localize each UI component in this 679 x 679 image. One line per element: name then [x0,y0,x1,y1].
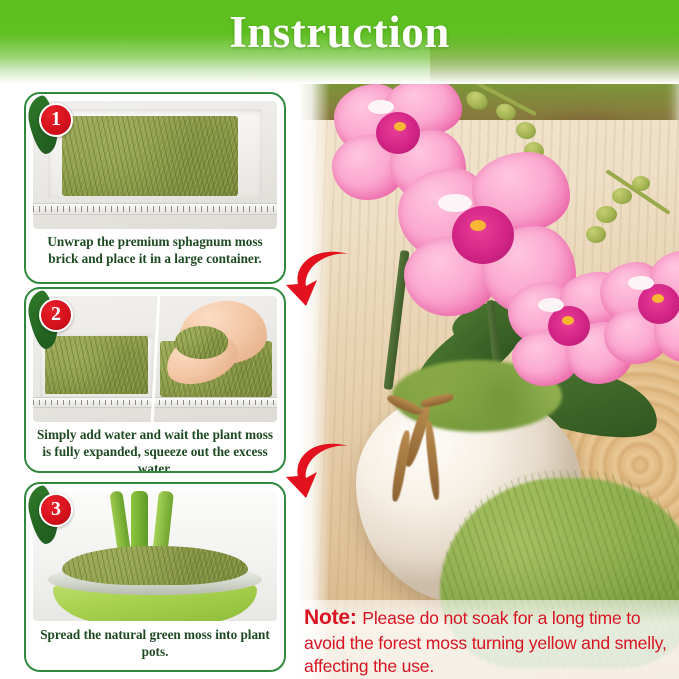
page-title: Instruction [0,6,679,58]
step-number-badge-1: 1 [39,103,73,137]
ruler [33,397,277,408]
left-column-fade [296,70,330,679]
flower-bud [612,188,632,204]
flower-bud [632,176,650,191]
flower-bud [586,226,606,243]
green-moss-in-pot [62,546,247,585]
flower-bud [596,206,617,223]
step-number-badge-3: 3 [39,493,73,527]
expanded-moss [45,336,147,394]
moss-clump [175,326,229,359]
curved-down-arrow-icon [284,442,350,502]
step-number-badge-2: 2 [39,298,73,332]
step-2-caption: Simply add water and wait the plant moss… [34,427,276,473]
step-card-1: 1 Unwrap the premium sphagnum moss brick… [24,92,286,284]
curved-down-arrow-icon [284,250,350,310]
step-1-caption: Unwrap the premium sphagnum moss brick a… [34,234,276,268]
step-flow-arrow-2 [284,442,350,502]
ruler [33,203,277,215]
step-card-3: 3 Spread the natural green moss into pla… [24,482,286,672]
step-card-2: 2 Simply add water and wait the plant mo… [24,287,286,473]
note-block: Note: Please do not soak for a long time… [304,604,676,678]
note-label: Note: [304,606,362,629]
step-3-caption: Spread the natural green moss into plant… [34,627,276,661]
instruction-infographic: Instruction 1 Unwrap the premium sphagnu… [0,0,679,679]
step-flow-arrow-1 [284,250,350,310]
moss-brick [62,116,238,195]
